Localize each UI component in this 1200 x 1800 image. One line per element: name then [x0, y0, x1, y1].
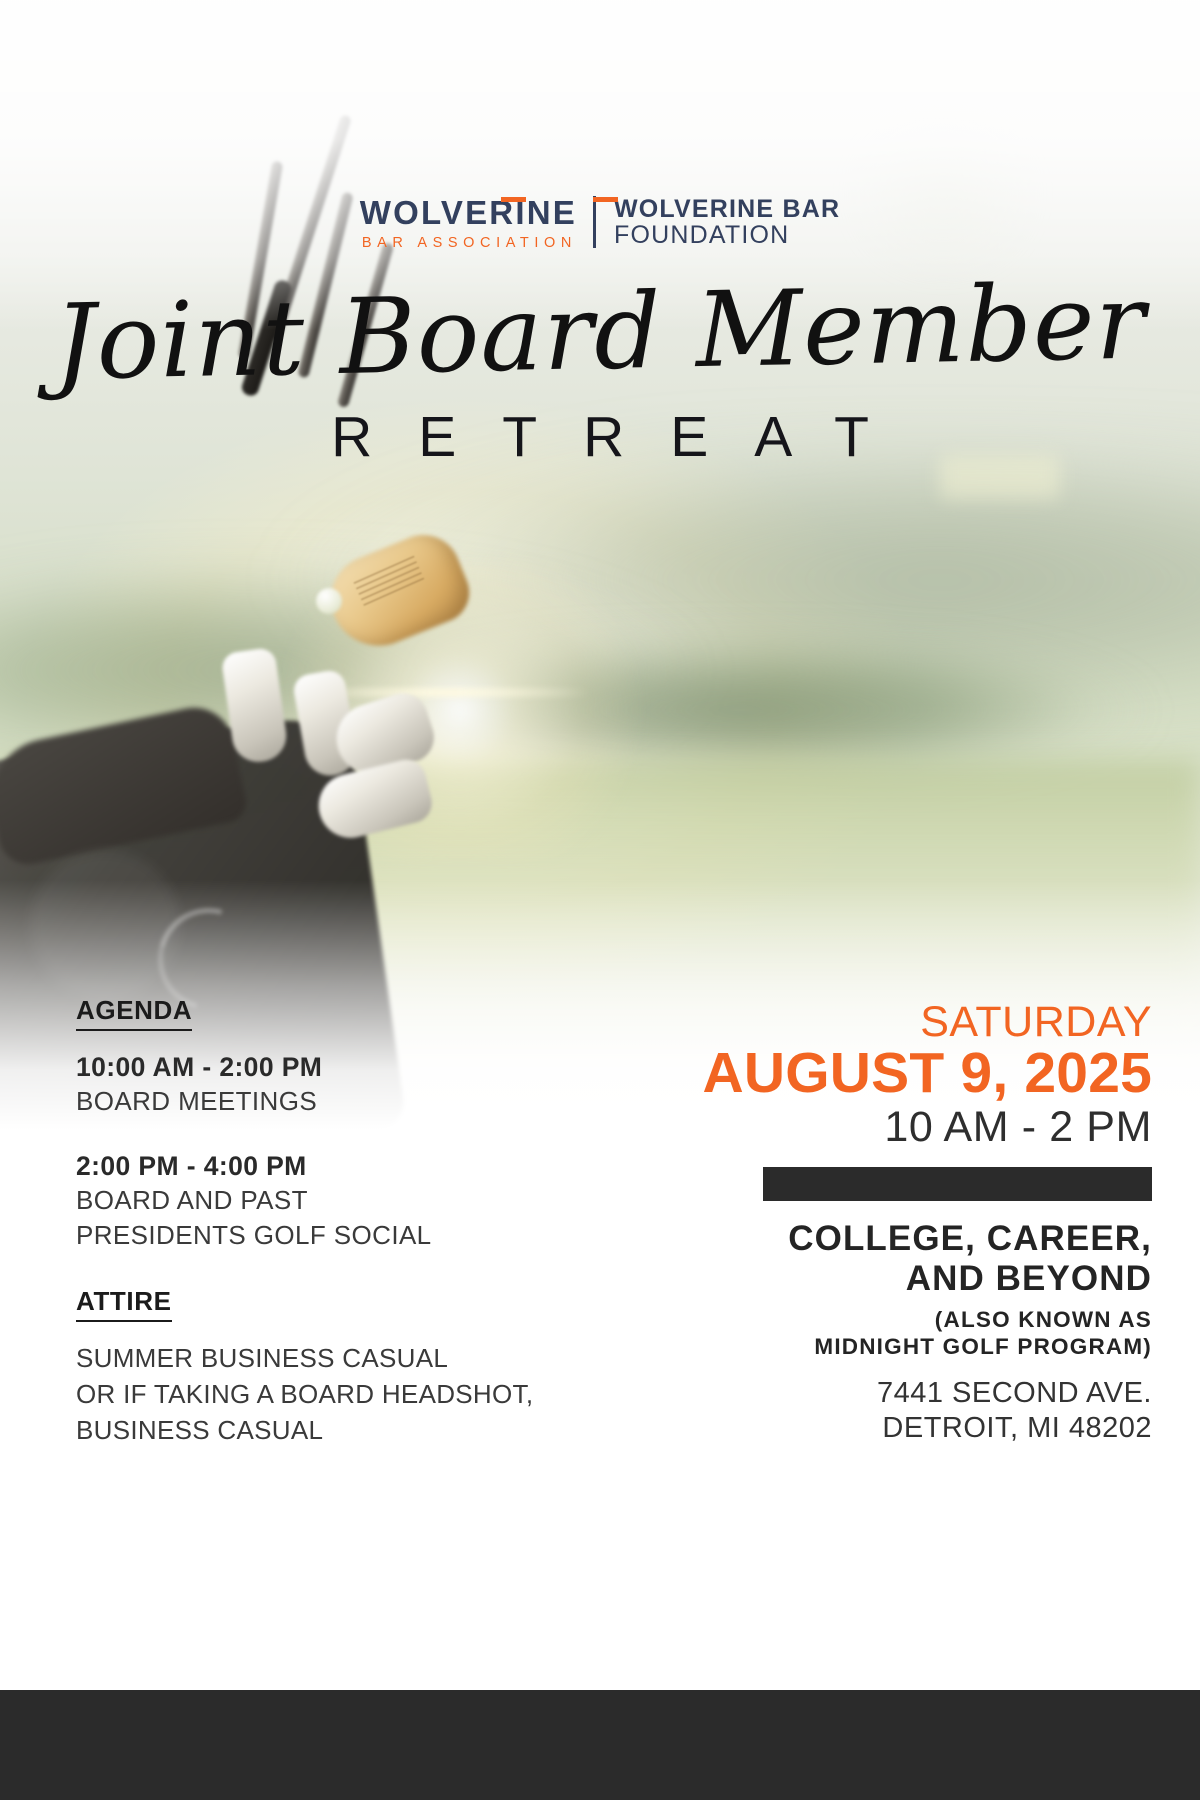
- agenda-slot-1: 10:00 AM - 2:00 PM BOARD MEETINGS: [76, 1050, 596, 1119]
- golf-course-photo-background: [0, 0, 1200, 1130]
- agenda-slot-1-desc: BOARD MEETINGS: [76, 1084, 596, 1118]
- agenda-slot-1-time: 10:00 AM - 2:00 PM: [76, 1050, 596, 1084]
- footer-bar: [0, 1690, 1200, 1800]
- event-date: AUGUST 9, 2025: [682, 1043, 1152, 1103]
- event-address-line-1: 7441 SECOND AVE.: [682, 1376, 1152, 1411]
- logo-wordmark-text: WOLVERINE: [360, 194, 577, 231]
- foundation-line-2: FOUNDATION: [614, 222, 840, 250]
- wolverine-bar-association-logo: WOLVERINE BAR ASSOCIATION: [360, 196, 591, 251]
- event-venue-aka-line-2: MIDNIGHT GOLF PROGRAM): [682, 1333, 1152, 1360]
- logo-divider: [593, 196, 596, 248]
- page-title-retreat: RETREAT: [0, 404, 1200, 470]
- agenda-slot-2-desc-line-2: PRESIDENTS GOLF SOCIAL: [76, 1218, 596, 1252]
- logo-accent-bar-e1: [501, 197, 526, 202]
- logo-wordmark: WOLVERINE: [360, 196, 577, 229]
- brand-logo-lockup: WOLVERINE BAR ASSOCIATION WOLVERINE BAR …: [0, 196, 1200, 251]
- attire-line-3: BUSINESS CASUAL: [76, 1413, 596, 1449]
- details-section: AGENDA 10:00 AM - 2:00 PM BOARD MEETINGS…: [0, 980, 1200, 1500]
- golf-ball: [316, 588, 342, 614]
- event-details-column: SATURDAY AUGUST 9, 2025 10 AM - 2 PM COL…: [682, 1000, 1152, 1446]
- agenda-slot-2-time: 2:00 PM - 4:00 PM: [76, 1149, 596, 1183]
- attire-heading: ATTIRE: [76, 1286, 172, 1322]
- page-title-script: Joint Board Member: [0, 262, 1200, 401]
- event-venue-aka-line-1: (ALSO KNOWN AS: [682, 1306, 1152, 1333]
- event-flyer: WOLVERINE BAR ASSOCIATION WOLVERINE BAR …: [0, 0, 1200, 1800]
- logo-subtitle: BAR ASSOCIATION: [360, 235, 577, 251]
- event-address-line-2: DETROIT, MI 48202: [682, 1411, 1152, 1446]
- agenda-slot-2-desc-line-1: BOARD AND PAST: [76, 1183, 596, 1217]
- agenda-slot-2: 2:00 PM - 4:00 PM BOARD AND PAST PRESIDE…: [76, 1149, 596, 1252]
- event-venue-line-2: AND BEYOND: [682, 1259, 1152, 1299]
- logo-accent-bar-e2: [593, 197, 618, 202]
- foundation-line-1: WOLVERINE BAR: [614, 196, 840, 222]
- attire-line-1: SUMMER BUSINESS CASUAL: [76, 1341, 596, 1377]
- wolverine-bar-foundation-logo: WOLVERINE BAR FOUNDATION: [598, 196, 840, 250]
- event-time: 10 AM - 2 PM: [682, 1104, 1152, 1151]
- event-venue-line-1: COLLEGE, CAREER,: [682, 1219, 1152, 1259]
- attire-line-2: OR IF TAKING A BOARD HEADSHOT,: [76, 1377, 596, 1413]
- event-day: SATURDAY: [682, 1000, 1152, 1045]
- event-divider-bar: [763, 1167, 1152, 1201]
- agenda-heading: AGENDA: [76, 995, 192, 1031]
- agenda-column: AGENDA 10:00 AM - 2:00 PM BOARD MEETINGS…: [76, 995, 596, 1448]
